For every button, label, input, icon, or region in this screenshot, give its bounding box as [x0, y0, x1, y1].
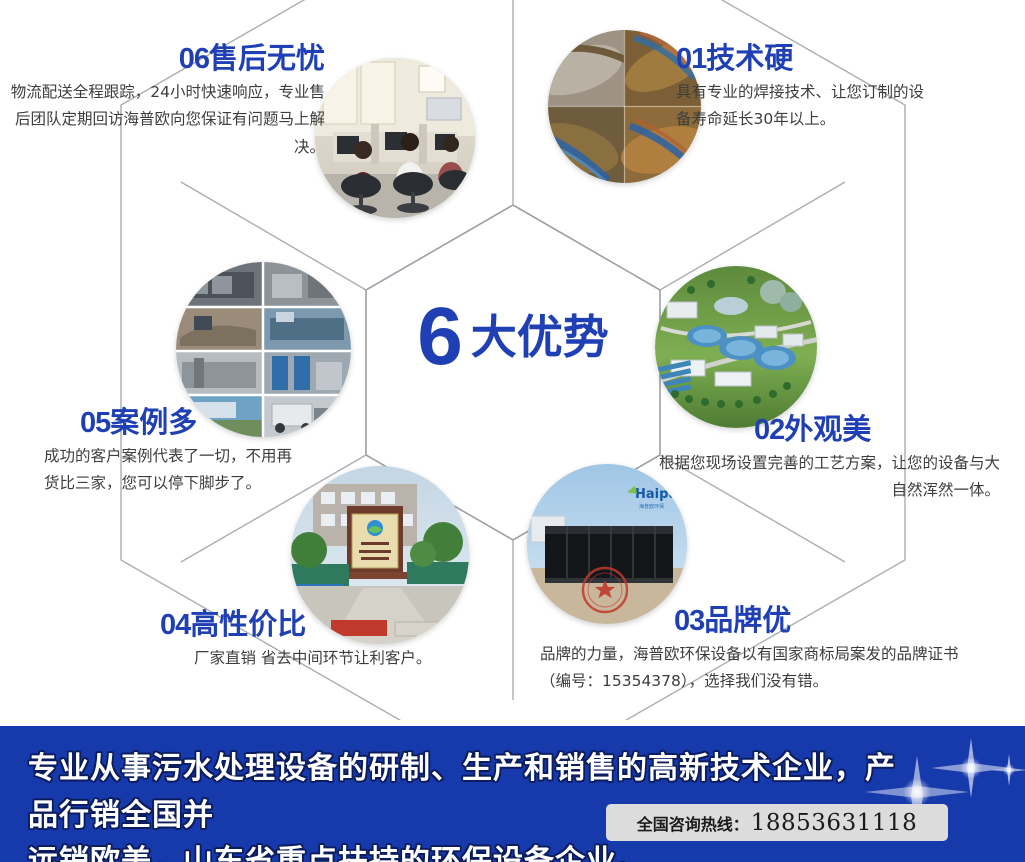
feature-03-body: 品牌的力量，海普欧环保设备以有国家商标局案发的品牌证书（编号：15354378）…	[540, 641, 960, 695]
feature-01-body: 具有专业的焊接技术、让您订制的设备寿命延长30年以上。	[676, 79, 926, 133]
feature-06-heading: 06售后无忧	[10, 42, 325, 76]
hotline-label: 全国咨询热线：	[637, 811, 749, 835]
feature-03: 03品牌优 品牌的力量，海普欧环保设备以有国家商标局案发的品牌证书（编号：153…	[540, 604, 960, 696]
feature-06: 06售后无忧 物流配送全程跟踪，24小时快速响应，专业售后团队定期回访海普欧向您…	[10, 42, 325, 161]
feature-06-title: 售后无忧	[209, 41, 325, 75]
feature-04-body: 厂家直销 省去中间环节让利客户。	[160, 645, 490, 672]
feature-04-number: 04	[160, 609, 190, 641]
center-title: 6 大优势	[383, 287, 643, 387]
feature-06-number: 06	[179, 43, 209, 75]
bottom-banner: 专业从事污水处理设备的研制、生产和销售的高新技术企业，产品行销全国并 远销欧美，…	[0, 726, 1025, 862]
feature-05-body: 成功的客户案例代表了一切，不用再货比三家，您可以停下脚步了。	[44, 443, 294, 497]
feature-02-body: 根据您现场设置完善的工艺方案，让您的设备与大自然浑然一体。	[648, 450, 1000, 504]
feature-01-heading: 01技术硬	[676, 42, 976, 76]
feature-04-heading: 04高性价比	[160, 608, 490, 642]
feature-03-number: 03	[674, 605, 704, 637]
feature-05-number: 05	[80, 407, 110, 439]
feature-06-body: 物流配送全程跟踪，24小时快速响应，专业售后团队定期回访海普欧向您保证有问题马上…	[10, 79, 325, 160]
feature-04-title: 高性价比	[190, 607, 306, 641]
wastewater-plant-aerial-photo	[655, 266, 817, 428]
feature-05-title: 案例多	[110, 405, 197, 439]
hotline-box[interactable]: 全国咨询热线： 18853631118	[606, 804, 948, 841]
center-title-word: 大优势	[471, 314, 609, 360]
feature-03-title: 品牌优	[704, 603, 791, 637]
feature-01: 01技术硬 具有专业的焊接技术、让您订制的设备寿命延长30年以上。	[676, 42, 976, 134]
feature-03-heading: 03品牌优	[540, 604, 960, 638]
hotline-number: 18853631118	[751, 810, 917, 836]
feature-04: 04高性价比 厂家直销 省去中间环节让利客户。	[160, 608, 490, 672]
feature-05-heading: 05案例多	[44, 406, 374, 440]
feature-01-number: 01	[676, 43, 706, 75]
infographic-canvas: 6 大优势	[0, 0, 1025, 862]
center-title-number: 6	[417, 296, 461, 378]
feature-01-title: 技术硬	[706, 41, 793, 75]
banner-line-2: 远销欧美，山东省重点扶持的环保设备企业。	[28, 839, 908, 862]
office-staff-photo	[315, 58, 475, 218]
feature-02-number: 02	[754, 414, 784, 446]
feature-02-heading: 02外观美	[648, 413, 1000, 447]
feature-02: 02外观美 根据您现场设置完善的工艺方案，让您的设备与大自然浑然一体。	[648, 413, 1000, 505]
feature-05: 05案例多 成功的客户案例代表了一切，不用再货比三家，您可以停下脚步了。	[44, 406, 374, 498]
feature-02-title: 外观美	[784, 412, 871, 446]
